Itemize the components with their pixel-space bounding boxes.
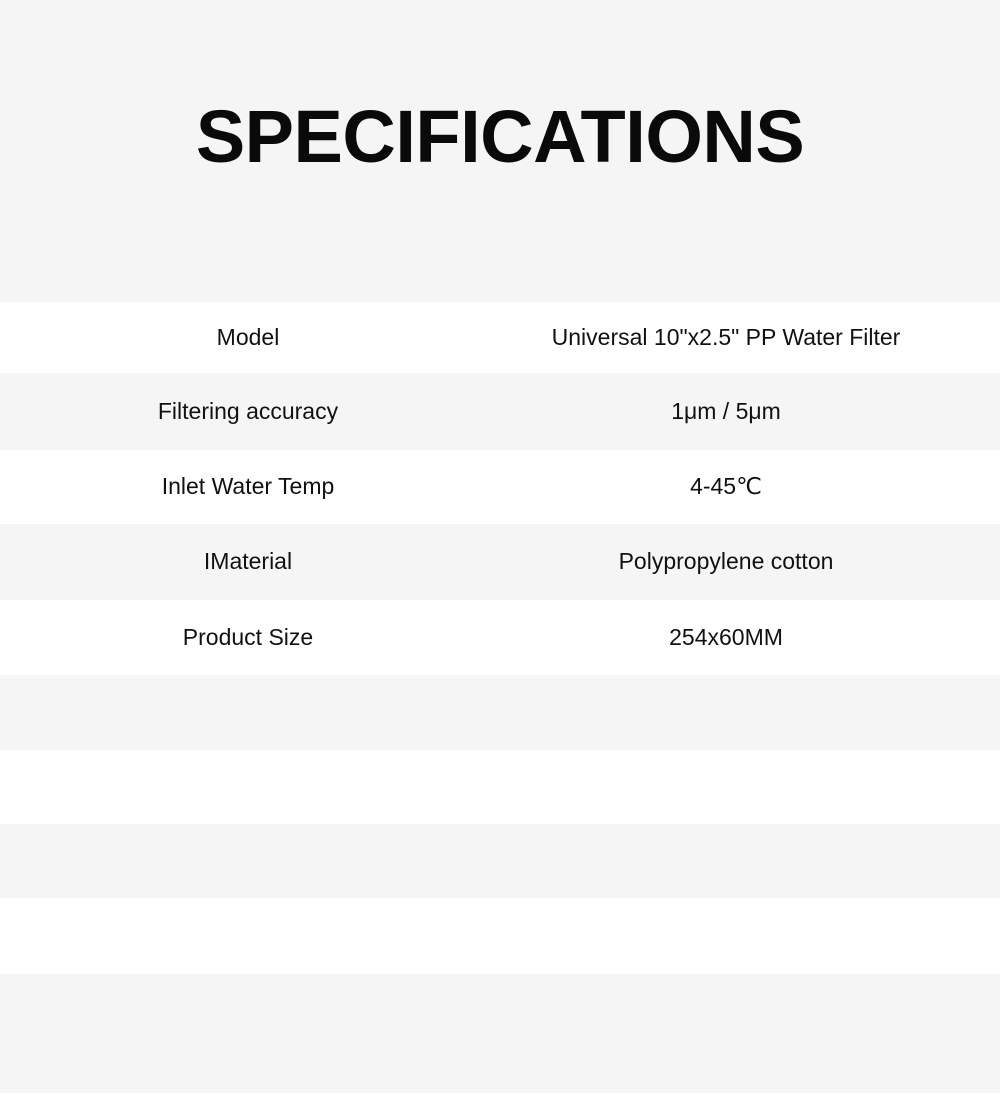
spec-label — [0, 1033, 496, 1034]
table-row-empty — [0, 675, 1000, 750]
spec-label: Filtering accuracy — [0, 398, 496, 426]
table-row: Inlet Water Temp 4-45℃ — [0, 450, 1000, 524]
table-row-empty — [0, 898, 1000, 974]
spec-value: Universal 10"x2.5" PP Water Filter — [496, 324, 1000, 352]
specifications-sheet: SPECIFICATIONS Model Universal 10"x2.5" … — [0, 0, 1000, 1094]
specifications-header: SPECIFICATIONS — [0, 0, 1000, 302]
spec-value: 254x60MM — [496, 624, 1000, 652]
table-row: Product Size 254x60MM — [0, 600, 1000, 675]
spec-label: IMaterial — [0, 548, 496, 576]
table-row-empty — [0, 824, 1000, 898]
spec-label — [0, 861, 496, 862]
spec-value — [496, 787, 1000, 788]
spec-label: Model — [0, 324, 496, 352]
spec-value — [496, 712, 1000, 713]
specifications-table: Model Universal 10"x2.5" PP Water Filter… — [0, 302, 1000, 1093]
table-row: Filtering accuracy 1μm / 5μm — [0, 373, 1000, 450]
spec-value — [496, 1033, 1000, 1034]
table-row: IMaterial Polypropylene cotton — [0, 524, 1000, 600]
page-title: SPECIFICATIONS — [196, 100, 804, 174]
spec-value — [496, 936, 1000, 937]
table-row: Model Universal 10"x2.5" PP Water Filter — [0, 302, 1000, 373]
spec-label — [0, 936, 496, 937]
spec-label — [0, 787, 496, 788]
spec-value: 4-45℃ — [496, 473, 1000, 501]
table-row-empty — [0, 750, 1000, 824]
table-row-empty — [0, 974, 1000, 1093]
spec-value: 1μm / 5μm — [496, 398, 1000, 426]
spec-value — [496, 861, 1000, 862]
spec-value: Polypropylene cotton — [496, 548, 1000, 576]
spec-label: Inlet Water Temp — [0, 473, 496, 501]
spec-label: Product Size — [0, 624, 496, 652]
spec-label — [0, 712, 496, 713]
